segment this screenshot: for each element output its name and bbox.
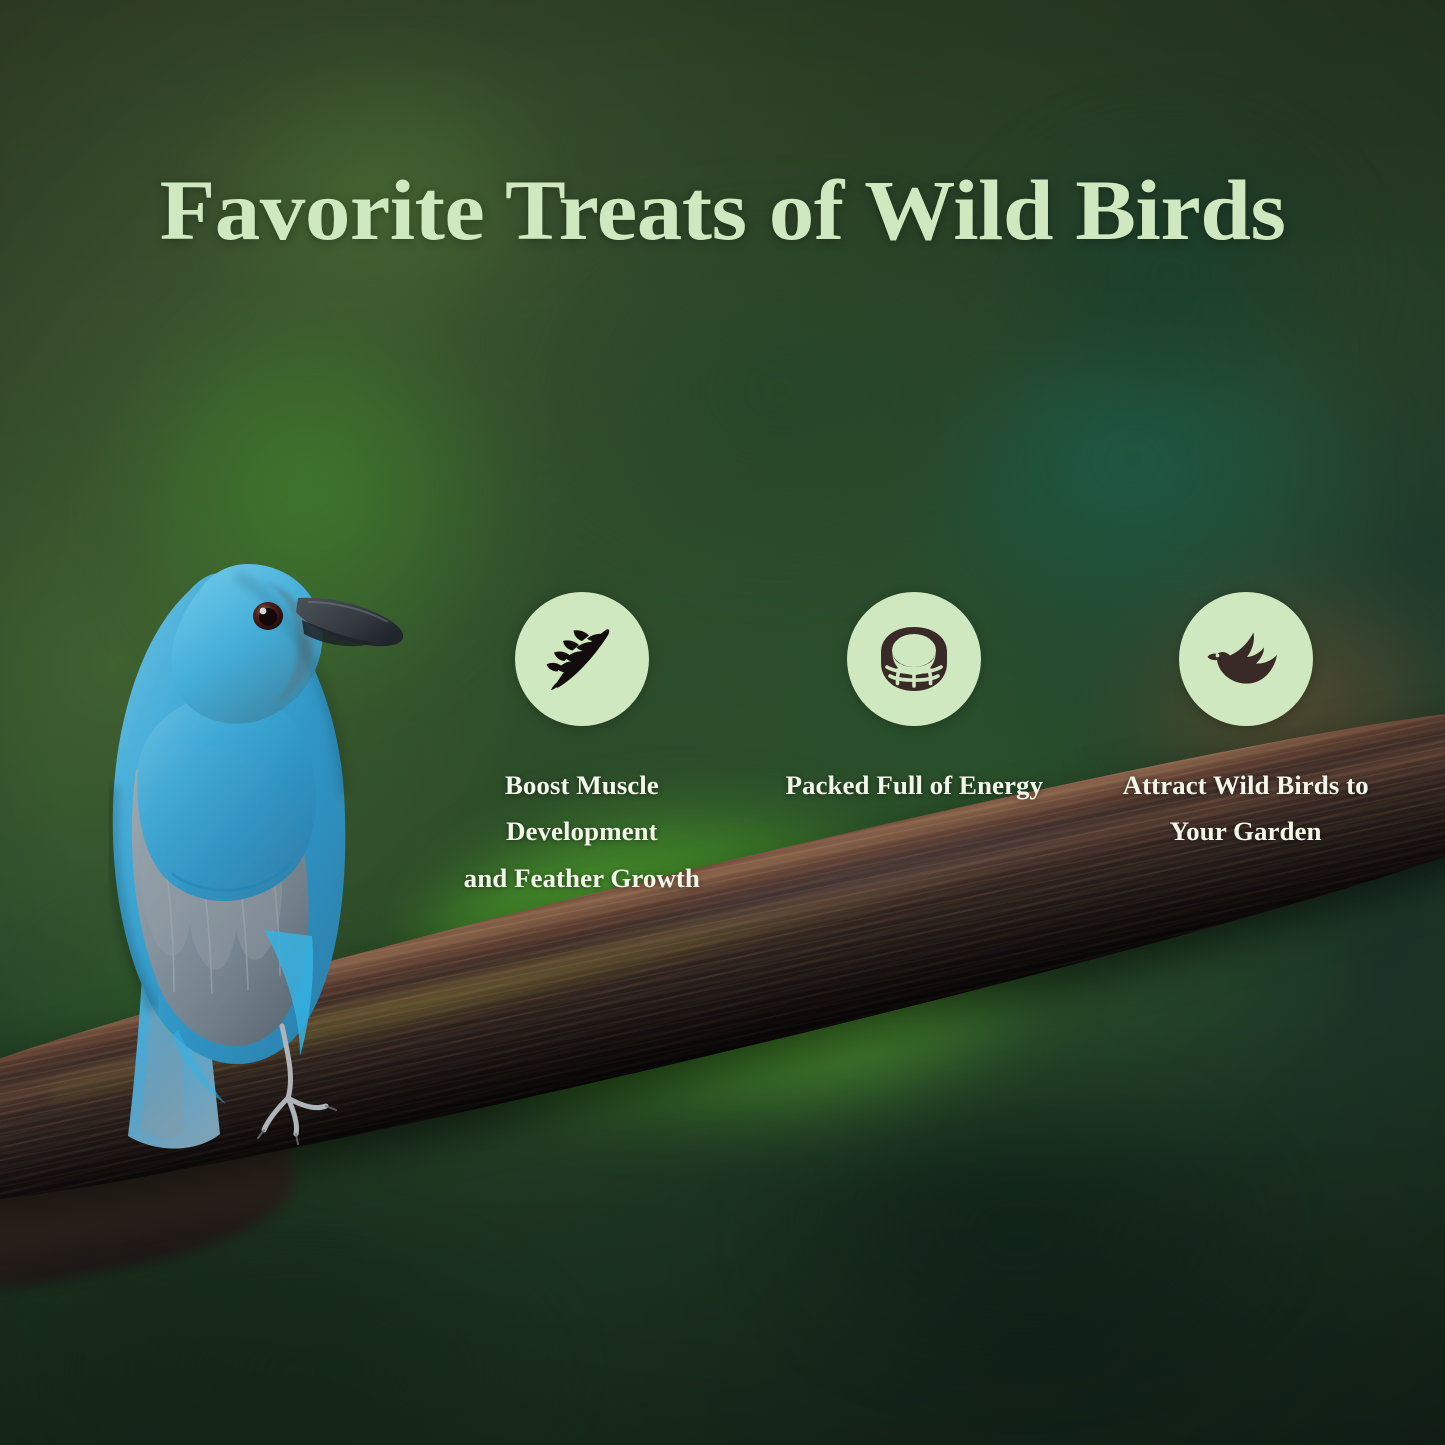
feature-badge-muscle bbox=[515, 592, 649, 726]
feature-badge-energy bbox=[847, 592, 981, 726]
feature-badge-attract bbox=[1179, 592, 1313, 726]
caption-line: and Feather Growth bbox=[464, 855, 700, 901]
caption-line: Your Garden bbox=[1123, 808, 1369, 854]
caption-line: Packed Full of Energy bbox=[785, 762, 1043, 808]
page-title: Favorite Treats of Wild Birds bbox=[0, 165, 1445, 255]
feature-item-muscle: Boost Muscle Development and Feather Gro… bbox=[432, 592, 732, 901]
caption-line: Development bbox=[464, 808, 700, 854]
feather-icon bbox=[543, 620, 621, 698]
feature-item-attract: Attract Wild Birds to Your Garden bbox=[1096, 592, 1396, 855]
feature-item-energy: Packed Full of Energy bbox=[764, 592, 1064, 808]
caption-line: Attract Wild Birds to bbox=[1123, 762, 1369, 808]
feature-caption-attract: Attract Wild Birds to Your Garden bbox=[1123, 762, 1369, 855]
bird-photo-subject bbox=[50, 470, 450, 1170]
flying-bird-icon bbox=[1205, 621, 1287, 697]
promo-banner: Favorite Treats of Wild Birds bbox=[0, 0, 1445, 1445]
feature-caption-muscle: Boost Muscle Development and Feather Gro… bbox=[464, 762, 700, 901]
feature-list: Boost Muscle Development and Feather Gro… bbox=[432, 592, 1396, 901]
feature-caption-energy: Packed Full of Energy bbox=[785, 762, 1043, 808]
caption-line: Boost Muscle bbox=[464, 762, 700, 808]
bird-feeder-icon bbox=[874, 619, 954, 699]
